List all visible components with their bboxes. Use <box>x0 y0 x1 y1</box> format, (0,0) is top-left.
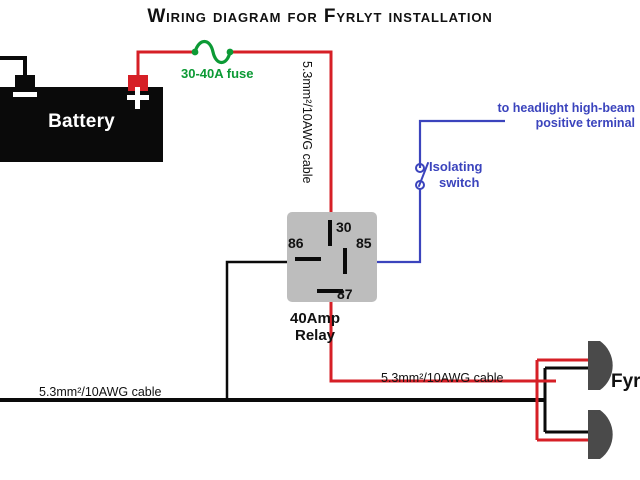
page-title: Wiring diagram for Fyrlyt installation <box>0 6 640 28</box>
wiring-diagram-canvas: Wiring diagram for Fyrlyt installation B… <box>0 0 640 480</box>
cable-label-main-feed: 5.3mm²/10AWG cable <box>300 61 314 184</box>
fuse-squiggle-icon <box>192 42 234 63</box>
high-beam-terminal-label: to headlight high-beam positive terminal <box>490 101 635 131</box>
lamp-label: Fyrl <box>611 371 640 393</box>
cable-label-lamp-run: 5.3mm²/10AWG cable <box>381 371 504 385</box>
isolating-switch-label-line2: switch <box>429 175 482 191</box>
isolating-switch-label-line1: Isolating <box>429 159 482 174</box>
battery-negative-terminal <box>15 75 35 91</box>
battery-label: Battery <box>0 111 163 133</box>
relay-pin-label-85: 85 <box>356 235 372 251</box>
relay-pin-85 <box>343 248 347 274</box>
relay-pin-label-86: 86 <box>288 235 304 251</box>
trigger-wire-group <box>377 121 505 262</box>
cable-label-ground-run: 5.3mm²/10AWG cable <box>39 385 162 399</box>
open-switch-icon[interactable] <box>416 163 428 189</box>
isolating-switch-label: Isolating switch <box>429 159 482 191</box>
battery-plus-icon-stem <box>135 87 140 109</box>
high-beam-label-line1: to headlight high-beam <box>498 101 636 115</box>
relay-pin-label-87: 87 <box>337 286 353 302</box>
wire-relay-85-to-switch <box>377 189 420 262</box>
watermark: 2014 Australian Images PROJECT200 WWW.PR… <box>0 416 268 480</box>
relay-body <box>287 212 377 302</box>
battery-minus-icon <box>13 92 37 97</box>
relay-caption: 40Amp Relay <box>255 310 375 344</box>
relay-caption-line1: 40Amp <box>290 310 340 327</box>
relay-pin-label-30: 30 <box>336 219 352 235</box>
relay-pin-30 <box>328 220 332 246</box>
high-beam-label-line2: positive terminal <box>536 116 635 130</box>
lamp-upper <box>588 341 613 390</box>
relay-caption-line2: Relay <box>295 327 335 344</box>
fuse-label: 30-40A fuse <box>181 66 254 81</box>
relay-pin-86 <box>295 257 321 261</box>
lamp-lower <box>588 410 613 459</box>
